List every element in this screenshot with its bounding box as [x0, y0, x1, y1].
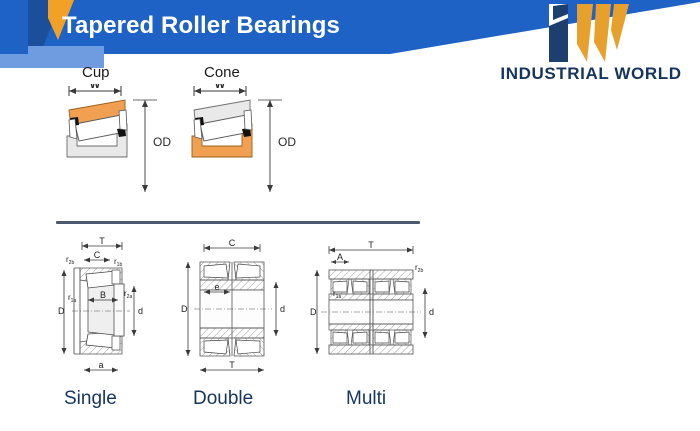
multi-label-r2b: r2b — [415, 263, 423, 274]
multi-bearing-diagram: T A — [305, 230, 440, 385]
cone-od-label: OD — [278, 135, 296, 149]
single-label-r1b: r1b — [114, 257, 122, 268]
multi-label-A: A — [337, 252, 343, 262]
slide-page: Tapered Roller Bearings INDUSTRIAL WORLD… — [0, 0, 700, 431]
multi-label-D: D — [310, 307, 317, 317]
single-label-r1a: r1a — [68, 293, 76, 304]
cup-od-label: OD — [153, 135, 171, 149]
single-bearing-diagram: T C B D — [50, 230, 170, 385]
multi-label-d: d — [429, 307, 434, 317]
single-label-B: B — [100, 290, 106, 300]
iw-logo-icon — [547, 4, 643, 62]
single-label-r2b: r2b — [66, 255, 74, 266]
double-label-D: D — [181, 304, 188, 314]
section-divider — [56, 221, 420, 224]
single-caption: Single — [64, 388, 117, 410]
logo-wordmark: INDUSTRIAL WORLD — [487, 64, 695, 84]
cup-caption: Cup — [82, 64, 110, 81]
page-title: Tapered Roller Bearings — [62, 12, 340, 40]
cup-width-label: W — [90, 84, 101, 91]
double-label-C: C — [229, 238, 236, 248]
single-label-D: D — [58, 306, 65, 316]
double-bearing-diagram: C e D d — [172, 230, 297, 385]
double-label-e: e — [214, 282, 219, 292]
single-label-r2a: r2a — [124, 289, 132, 300]
double-label-d: d — [280, 304, 285, 314]
single-label-T: T — [99, 236, 105, 246]
cone-caption: Cone — [204, 64, 240, 81]
multi-caption: Multi — [346, 388, 386, 410]
single-label-a: a — [98, 360, 103, 370]
cone-diagram: W OD — [180, 84, 300, 196]
single-label-C: C — [94, 250, 101, 260]
cup-diagram: W OD — [55, 84, 175, 196]
single-label-d: d — [138, 306, 143, 316]
double-caption: Double — [193, 388, 253, 410]
logo: INDUSTRIAL WORLD — [487, 4, 695, 86]
multi-label-T: T — [368, 240, 374, 250]
double-label-T: T — [229, 360, 235, 370]
cone-width-label: W — [215, 84, 226, 91]
